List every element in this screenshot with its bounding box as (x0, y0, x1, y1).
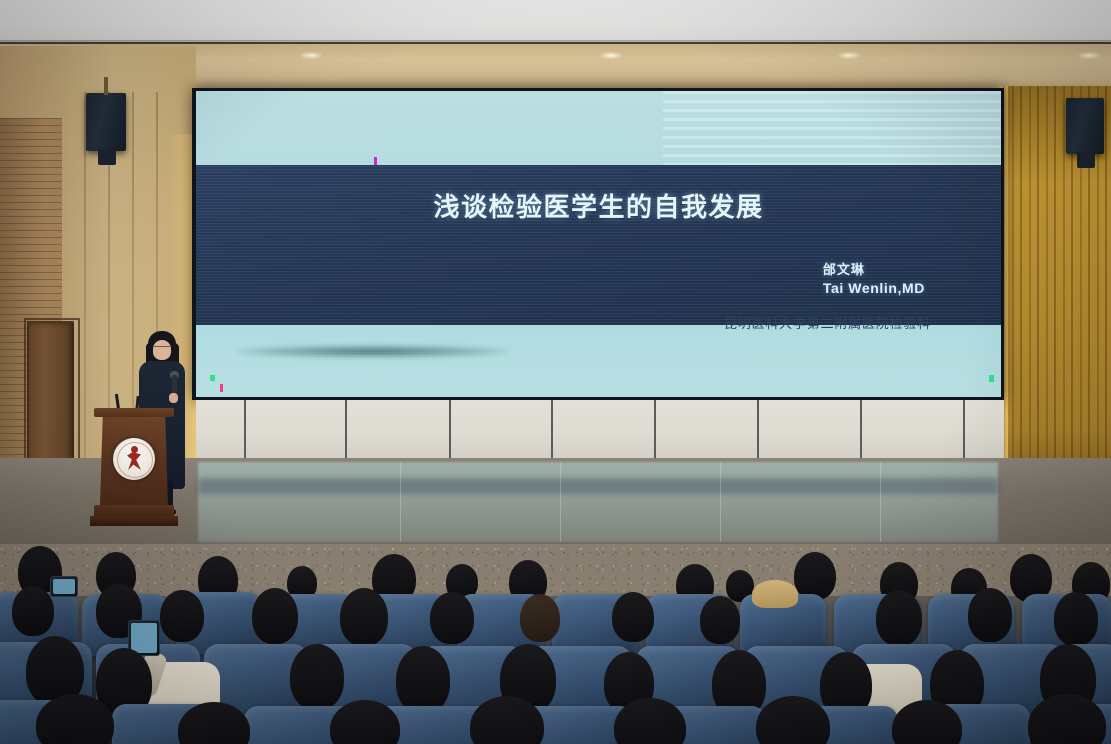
auditorium-photo: 浅谈检验医学生的自我发展 邰文琳 Tai Wenlin,MD 昆明医科大学第二附… (0, 0, 1111, 744)
speaker-box (1066, 98, 1104, 154)
audience-head (12, 586, 54, 636)
granite-stage-front (0, 544, 1111, 596)
slide-band-bottom (196, 325, 1001, 397)
green-pixel-bottom-right (989, 375, 994, 382)
audience-head (876, 590, 922, 646)
slide-title: 浅谈检验医学生的自我发展 (196, 187, 1001, 224)
glasses-icon (154, 346, 170, 351)
pink-pixel-bottom-left (220, 384, 223, 392)
stage-panel-divider (757, 400, 759, 458)
ceiling-speaker-right (1066, 98, 1104, 154)
stage-floor-screen-reflection (198, 462, 998, 542)
audience-head (612, 592, 654, 642)
audience-head (968, 588, 1012, 642)
slide-author-block: 邰文琳 Tai Wenlin,MD (823, 261, 925, 297)
slide-blur-artifact (236, 345, 510, 358)
audience-head (340, 588, 388, 646)
audience-head (160, 590, 204, 642)
slide-author-chinese: 邰文琳 (823, 261, 925, 279)
emblem-figure-body (127, 452, 141, 470)
phone-screen (53, 579, 75, 594)
podium-emblem-figure-icon (127, 446, 141, 470)
stage-panel-divider (860, 400, 862, 458)
speaker-foot (1077, 152, 1095, 168)
slide-author-english: Tai Wenlin,MD (823, 279, 925, 298)
slide-texture-rows (663, 91, 1001, 165)
stage-panel-divider (963, 400, 965, 458)
audience-head (396, 646, 450, 714)
audience-head (700, 596, 740, 644)
audience-head (430, 592, 474, 644)
stage-floor-dark-reflection (198, 478, 998, 494)
floor-tile-line (560, 462, 561, 542)
stage-panel-divider (551, 400, 553, 458)
floor-tile-line (720, 462, 721, 542)
audience-head (252, 588, 298, 644)
stage-front-wall (196, 400, 1004, 458)
ceiling-speaker-left (86, 93, 126, 151)
stage-panel-divider (449, 400, 451, 458)
smartphone-raised[interactable] (50, 576, 78, 597)
audience (0, 544, 1111, 744)
podium-top (94, 408, 174, 417)
downlight (300, 52, 322, 59)
audience-head (520, 594, 560, 642)
speaker-box (86, 93, 126, 151)
speaker-stem (104, 77, 108, 95)
floor-tile-line (880, 462, 881, 542)
stage-panel-divider (345, 400, 347, 458)
ceiling (0, 0, 1111, 42)
speaker-foot (98, 149, 116, 165)
audience-head (794, 552, 836, 600)
khaki-cap (752, 580, 798, 608)
phone-screen (131, 623, 157, 653)
audience-head (290, 644, 344, 710)
downlight (1078, 52, 1100, 59)
magenta-pixel-top (374, 157, 377, 165)
slide-band-top (196, 91, 1001, 165)
green-pixel-bottom-left (210, 375, 215, 381)
podium (94, 408, 174, 526)
downlight (838, 52, 860, 59)
stage-panel-divider (654, 400, 656, 458)
floor-tile-line (400, 462, 401, 542)
slide-affiliation: 昆明医科大学第二附属医院检验科 (724, 313, 931, 332)
presenter-hand (169, 393, 178, 403)
led-screen[interactable]: 浅谈检验医学生的自我发展 邰文琳 Tai Wenlin,MD 昆明医科大学第二附… (196, 91, 1001, 397)
downlight (600, 52, 622, 59)
podium-plinth (90, 516, 178, 526)
audience-head (1054, 592, 1098, 646)
stage-panel-divider (244, 400, 246, 458)
emblem-figure-head (131, 446, 138, 453)
